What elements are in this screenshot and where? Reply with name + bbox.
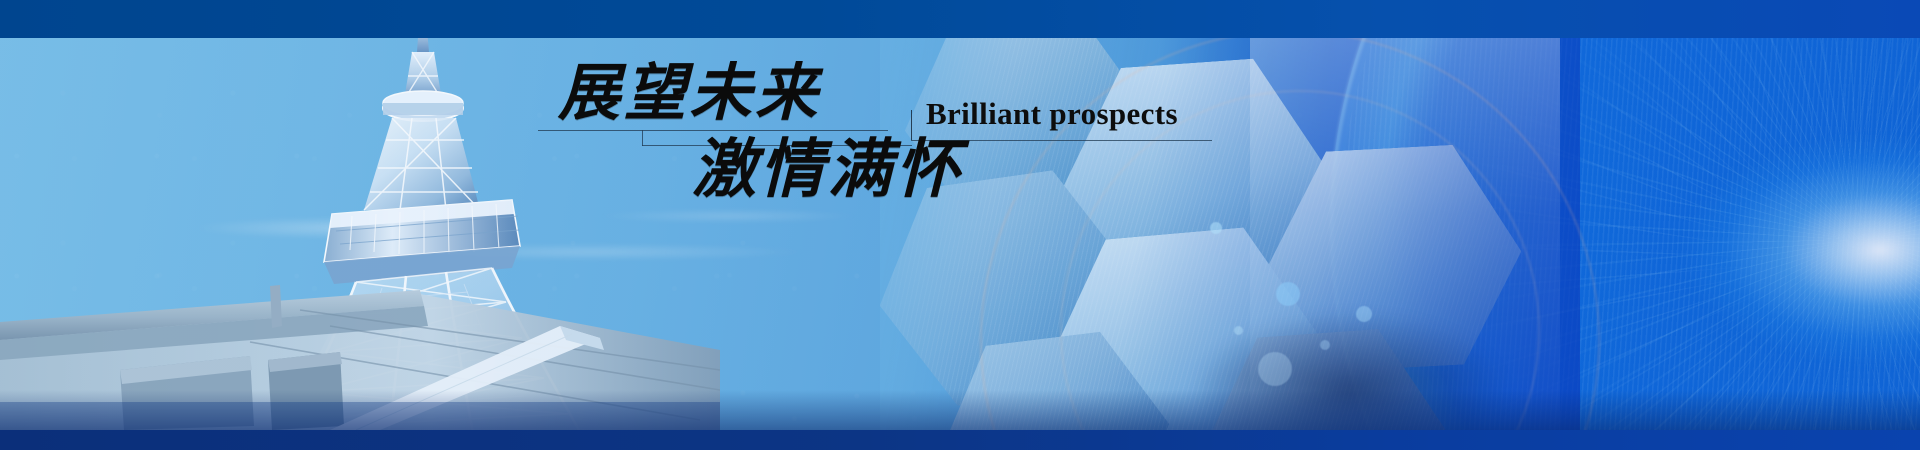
lens-flare-dot bbox=[1356, 306, 1372, 322]
lens-flare-dot bbox=[1210, 222, 1222, 234]
lens-flare-dot bbox=[1276, 282, 1300, 306]
lens-flare-dot bbox=[1320, 340, 1330, 350]
lens-flare-dot bbox=[1234, 326, 1243, 335]
decor-line-upper bbox=[538, 130, 888, 131]
decor-line-step-vertical bbox=[642, 130, 643, 146]
banner: 展望未来 Brilliant prospects 激情满怀 bbox=[0, 0, 1920, 450]
rooftop-structure bbox=[0, 230, 720, 430]
headline-calligraphy-line1: 展望未来 bbox=[558, 62, 821, 124]
bottom-bar bbox=[0, 430, 1920, 450]
headline-calligraphy-line2: 激情满怀 bbox=[692, 138, 963, 202]
top-bar bbox=[0, 0, 1920, 38]
english-tagline: Brilliant prospects bbox=[926, 96, 1178, 132]
lens-flare-dot bbox=[1258, 352, 1292, 386]
rooftop-illustration bbox=[0, 230, 720, 430]
sun-glow bbox=[1620, 90, 1920, 410]
